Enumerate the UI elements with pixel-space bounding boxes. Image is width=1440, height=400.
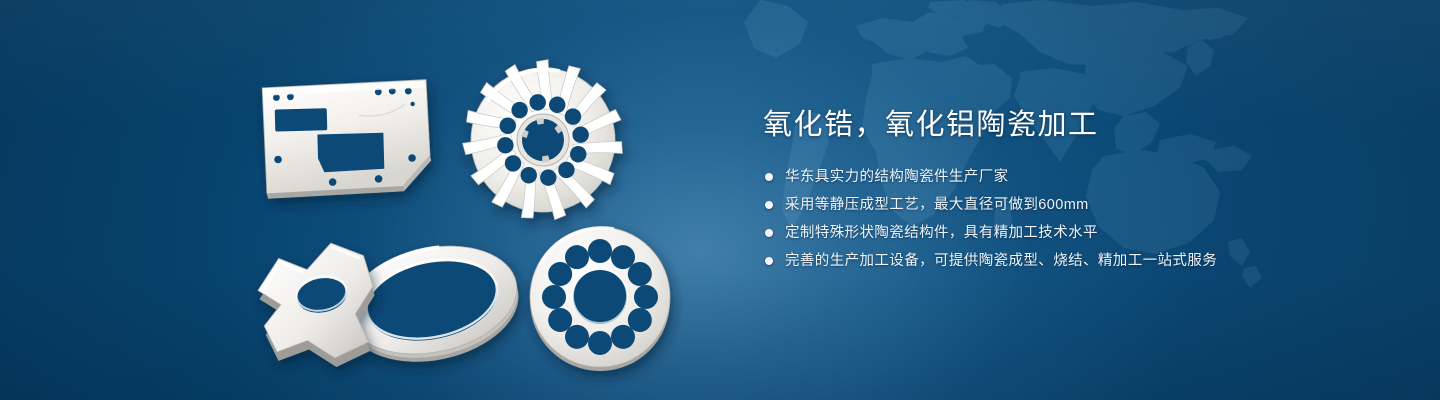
ceramic-impeller-disc xyxy=(450,47,635,232)
list-item: 定制特殊形状陶瓷结构件，具有精加工技术水平 xyxy=(765,222,1383,244)
bullet-dot-icon xyxy=(765,257,773,265)
product-photo-cluster xyxy=(0,0,720,400)
banner-headline: 氧化锆，氧化铝陶瓷加工 xyxy=(763,108,1383,142)
ceramic-mounting-plate xyxy=(262,80,432,199)
ceramic-perforated-disc xyxy=(530,227,670,371)
bullet-text: 完善的生产加工设备，可提供陶瓷成型、烧结、精加工一站式服务 xyxy=(785,250,1217,272)
banner-feature-list: 华东具实力的结构陶瓷件生产厂家 采用等静压成型工艺，最大直径可做到600mm 定… xyxy=(765,166,1383,272)
bullet-text: 定制特殊形状陶瓷结构件，具有精加工技术水平 xyxy=(785,222,1098,244)
bullet-dot-icon xyxy=(765,229,773,237)
list-item: 完善的生产加工设备，可提供陶瓷成型、烧结、精加工一站式服务 xyxy=(765,250,1383,272)
list-item: 采用等静压成型工艺，最大直径可做到600mm xyxy=(765,194,1383,216)
bullet-text: 采用等静压成型工艺，最大直径可做到600mm xyxy=(785,194,1089,216)
bullet-text: 华东具实力的结构陶瓷件生产厂家 xyxy=(785,166,1009,188)
bullet-dot-icon xyxy=(765,201,773,209)
list-item: 华东具实力的结构陶瓷件生产厂家 xyxy=(765,166,1383,188)
hero-banner: 氧化锆，氧化铝陶瓷加工 华东具实力的结构陶瓷件生产厂家 采用等静压成型工艺，最大… xyxy=(0,0,1440,400)
banner-copy: 氧化锆，氧化铝陶瓷加工 华东具实力的结构陶瓷件生产厂家 采用等静压成型工艺，最大… xyxy=(763,108,1383,278)
bullet-dot-icon xyxy=(765,173,773,181)
ceramic-cross-part xyxy=(252,237,386,378)
